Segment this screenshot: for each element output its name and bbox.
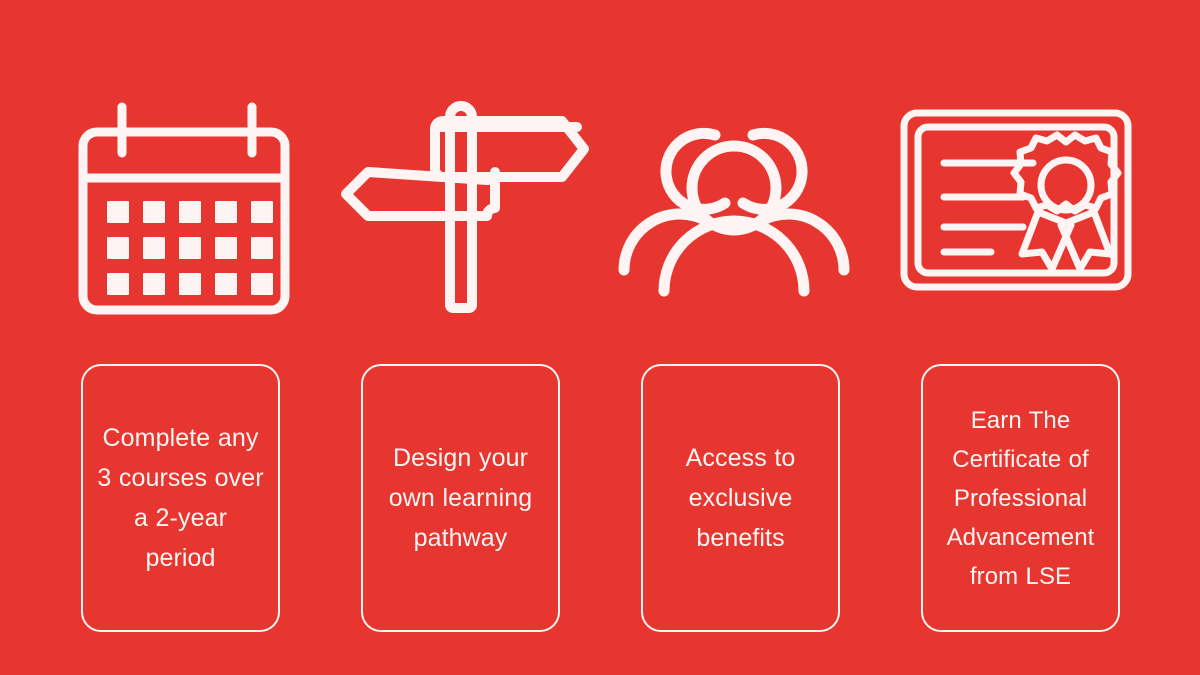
- benefit-card-design-pathway[interactable]: Design your own learning pathway: [361, 364, 560, 632]
- benefit-card-text: Complete any 3 courses over a 2-year per…: [97, 418, 264, 578]
- benefit-card-earn-certificate[interactable]: Earn The Certificate of Professional Adv…: [921, 364, 1120, 632]
- card-row: Complete any 3 courses over a 2-year per…: [0, 0, 1200, 675]
- benefit-card-complete-courses[interactable]: Complete any 3 courses over a 2-year per…: [81, 364, 280, 632]
- benefit-card-text: Earn The Certificate of Professional Adv…: [937, 401, 1104, 596]
- benefit-card-text: Design your own learning pathway: [377, 438, 544, 558]
- benefit-card-text: Access to exclusive benefits: [657, 438, 824, 558]
- benefit-card-exclusive-benefits[interactable]: Access to exclusive benefits: [641, 364, 840, 632]
- infographic-root: Complete any 3 courses over a 2-year per…: [0, 0, 1200, 675]
